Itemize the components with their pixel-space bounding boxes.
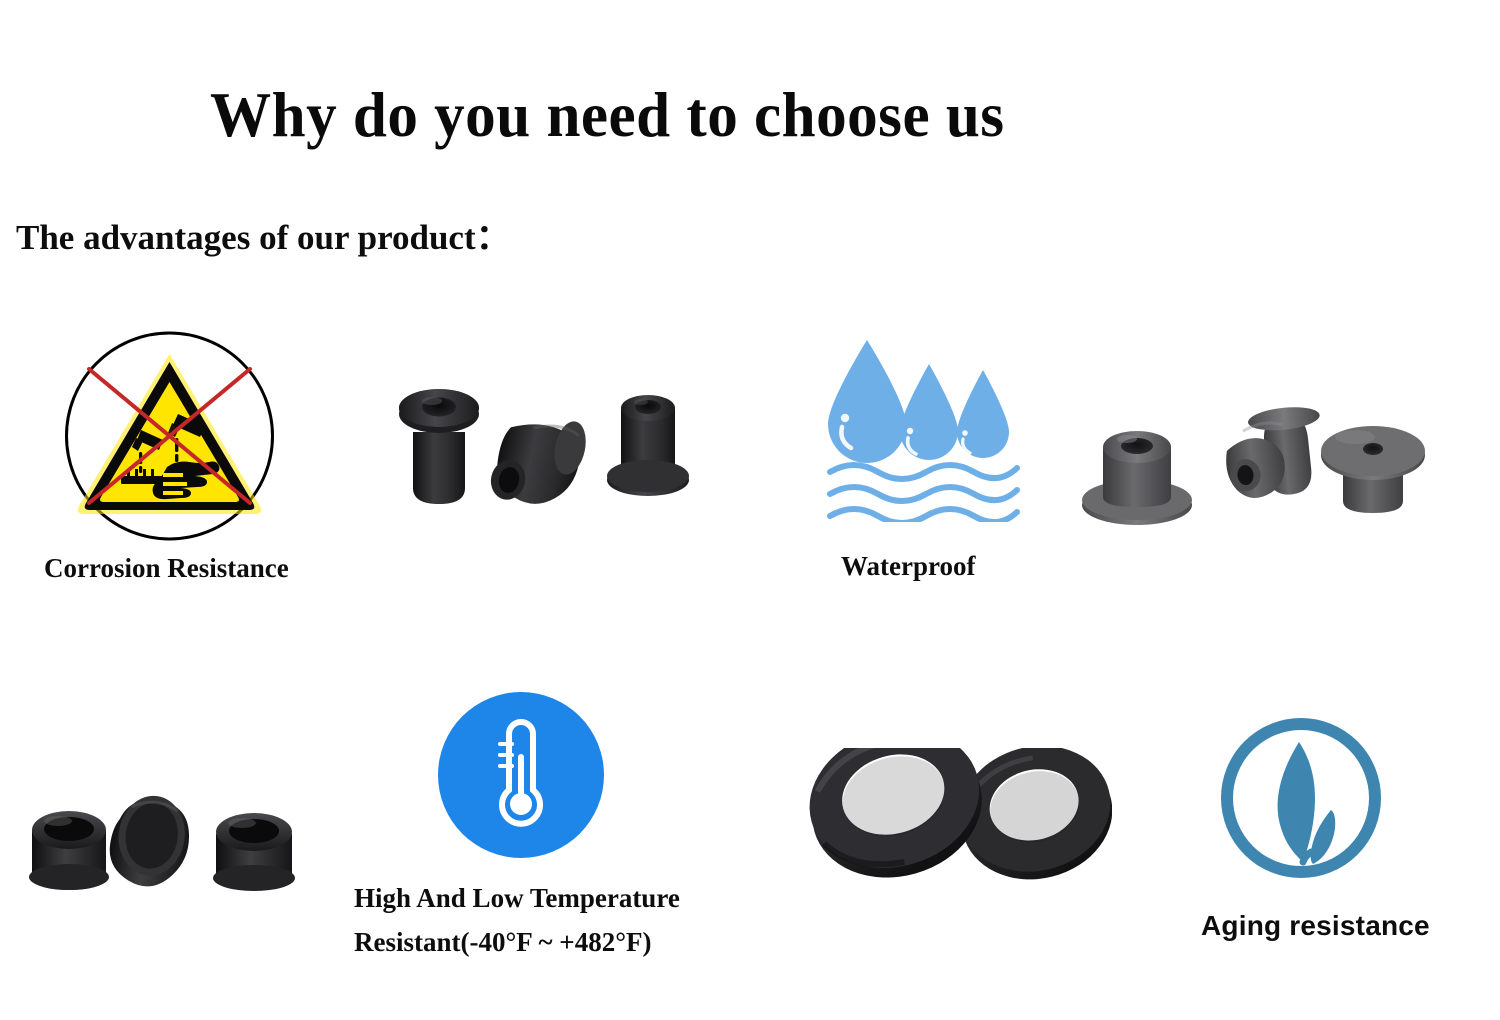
- infographic-page: Why do you need to choose us The advanta…: [0, 0, 1500, 1020]
- feature-label-corrosion-resistance: Corrosion Resistance: [44, 548, 289, 588]
- corrosive-hazard-prohibited-icon: [63, 330, 276, 542]
- product-photo-plugs-bottom-left: [18, 782, 308, 907]
- section-subtitle: The advantages of our product：: [16, 220, 511, 255]
- product-photo-grommets-top-left: [380, 368, 720, 518]
- feature-label-waterproof: Waterproof: [841, 546, 975, 586]
- feature-label-temperature-resistant: High And Low Temperature Resistant(-40°F…: [354, 876, 754, 964]
- product-photo-rings-bottom-center: [782, 748, 1112, 918]
- leaf-in-circle-icon: [1215, 712, 1387, 884]
- page-title: Why do you need to choose us: [210, 84, 1180, 147]
- thermometer-icon: [438, 692, 604, 858]
- water-droplets-waves-icon: [824, 332, 1024, 522]
- product-photo-grommets-top-right: [1075, 405, 1425, 545]
- feature-label-aging-resistance: Aging resistance: [1201, 906, 1430, 946]
